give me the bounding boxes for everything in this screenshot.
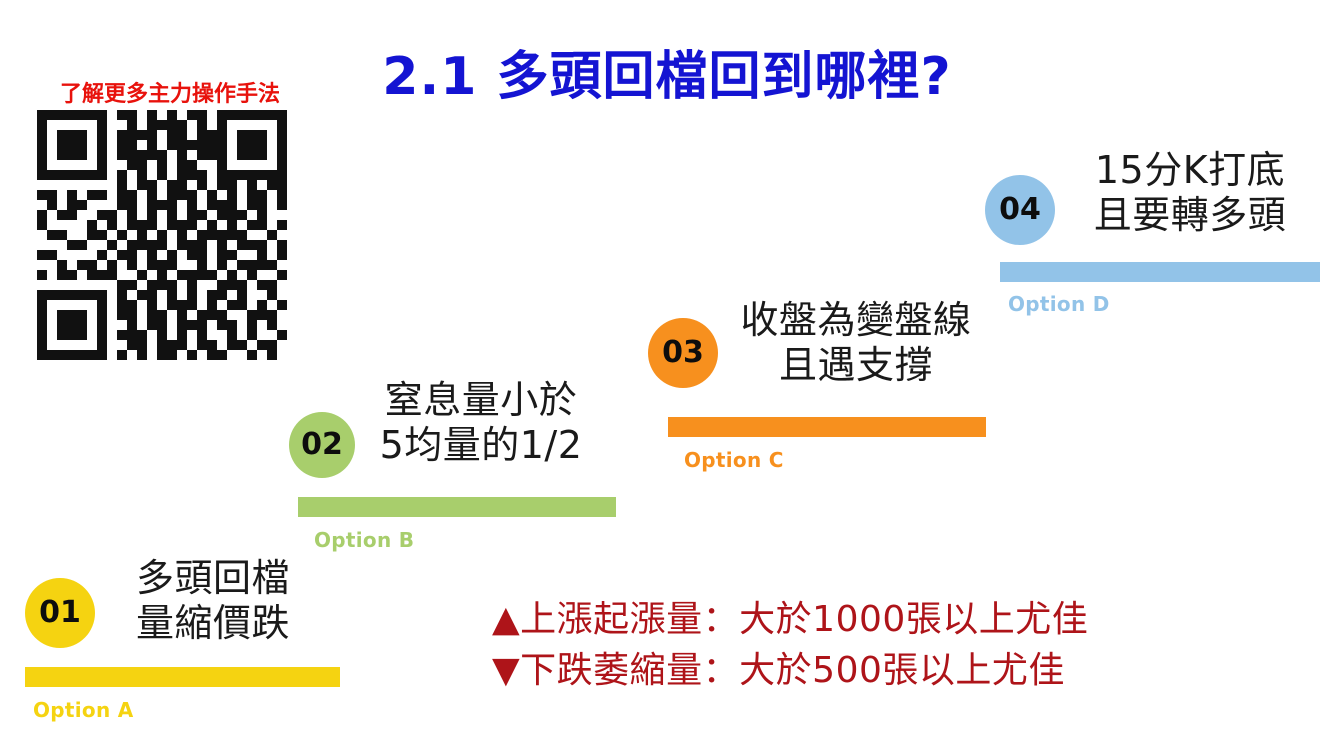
- note-line-down: ▼下跌萎縮量：大於500張以上尤佳: [492, 645, 1272, 696]
- step-number-badge-01: 01: [25, 578, 95, 648]
- qr-caption: 了解更多主力操作手法: [20, 76, 320, 108]
- step-headline-04: 15分K打底 且要轉多頭: [1040, 148, 1334, 238]
- step-headline-01: 多頭回檔 量縮價跌: [88, 556, 338, 646]
- step-option-label-03: Option C: [684, 448, 784, 472]
- qr-code-icon[interactable]: [37, 110, 287, 360]
- slide-canvas: 2.1 多頭回檔回到哪裡? 了解更多主力操作手法: [0, 0, 1334, 740]
- note-line-up: ▲上漲起漲量：大於1000張以上尤佳: [492, 594, 1272, 645]
- step-option-label-04: Option D: [1008, 292, 1110, 316]
- step-bar-04: [1000, 262, 1320, 282]
- step-option-label-02: Option B: [314, 528, 414, 552]
- notes-block: ▲上漲起漲量：大於1000張以上尤佳 ▼下跌萎縮量：大於500張以上尤佳: [492, 594, 1272, 696]
- step-headline-02: 窒息量小於 5均量的1/2: [336, 378, 626, 468]
- step-bar-01: [25, 667, 340, 687]
- step-headline-03: 收盤為變盤線 且遇支撐: [706, 298, 1006, 388]
- step-bar-03: [668, 417, 986, 437]
- step-option-label-01: Option A: [33, 698, 134, 722]
- step-bar-02: [298, 497, 616, 517]
